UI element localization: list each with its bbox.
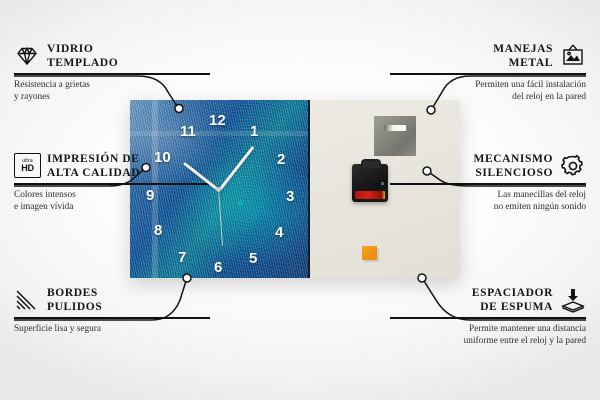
- foam-spacer-icon: [560, 287, 586, 313]
- feature-espaciador-espuma[interactable]: ESPACIADOR DE ESPUMA Permite mantener un…: [390, 286, 586, 348]
- feature-title: IMPRESIÓN DE ALTA CALIDAD: [47, 152, 140, 180]
- clock-center-pivot: [216, 187, 221, 192]
- feature-title: ESPACIADOR DE ESPUMA: [472, 286, 553, 314]
- picture-frame-icon: [560, 43, 586, 69]
- clock-numeral-2: 2: [277, 152, 285, 167]
- feature-title: MECANISMO SILENCIOSO: [473, 152, 553, 180]
- infographic-canvas: 12 1 2 3 4 5 6 7 8 9 10 11: [0, 0, 600, 400]
- feature-body-line1: Superficie lisa y segura: [14, 323, 210, 335]
- feature-header: ESPACIADOR DE ESPUMA: [390, 286, 586, 314]
- feature-title: MANEJAS METAL: [493, 42, 553, 70]
- orange-foam-spacer: [362, 246, 377, 260]
- clock-second-hand: [218, 190, 223, 246]
- divider: [14, 73, 210, 75]
- clock-numeral-1: 1: [250, 124, 258, 139]
- feature-body-line2: del reloj en la pared: [390, 91, 586, 103]
- feature-body-line2: no emiten ningún sonido: [390, 201, 586, 213]
- clock-numeral-8: 8: [154, 223, 162, 238]
- ultra-hd-big-text: HD: [21, 164, 33, 172]
- feature-header: VIDRIO TEMPLADO: [14, 42, 210, 70]
- feature-body-line2: uniforme entre el reloj y la pared: [390, 335, 586, 347]
- divider: [390, 317, 586, 319]
- gear-icon: [560, 153, 586, 179]
- feature-header: MANEJAS METAL: [390, 42, 586, 70]
- polished-edge-icon: [14, 287, 40, 313]
- clock-numeral-7: 7: [178, 250, 186, 265]
- feature-impresion-alta-calidad[interactable]: ultra HD IMPRESIÓN DE ALTA CALIDAD Color…: [14, 152, 210, 214]
- feature-body-line1: Permite mantener una distancia: [390, 323, 586, 335]
- feature-body-line2: y rayones: [14, 91, 210, 103]
- feature-vidrio-templado[interactable]: VIDRIO TEMPLADO Resistencia a grietas y …: [14, 42, 210, 104]
- divider: [390, 73, 586, 75]
- clock-numeral-12: 12: [209, 113, 226, 128]
- clock-numeral-3: 3: [286, 189, 294, 204]
- quartz-clock-mechanism: [352, 164, 388, 202]
- feature-manejas-metal[interactable]: MANEJAS METAL Permiten una fácil instala…: [390, 42, 586, 104]
- feature-header: ultra HD IMPRESIÓN DE ALTA CALIDAD: [14, 152, 210, 180]
- feature-header: BORDES PULIDOS: [14, 286, 210, 314]
- diamond-icon: [14, 43, 40, 69]
- hanger-slot: [384, 125, 406, 131]
- clock-numeral-9: 9: [146, 188, 154, 203]
- mechanism-hanger-tab: [361, 159, 381, 168]
- divider: [14, 317, 210, 319]
- divider: [390, 183, 586, 185]
- feature-body-line2: e imagen vívida: [14, 201, 210, 213]
- mechanism-detail: [381, 182, 384, 185]
- feature-title: VIDRIO TEMPLADO: [47, 42, 118, 70]
- feature-body-line1: Colores intensos: [14, 189, 210, 201]
- feature-title: BORDES PULIDOS: [47, 286, 102, 314]
- clock-numeral-4: 4: [275, 225, 283, 240]
- aa-battery: [355, 191, 385, 199]
- clock-numeral-10: 10: [154, 150, 171, 165]
- feature-header: MECANISMO SILENCIOSO: [390, 152, 586, 180]
- feature-body-line1: Las manecillas del reloj: [390, 189, 586, 201]
- clock-numeral-6: 6: [214, 260, 222, 275]
- feature-bordes-pulidos[interactable]: BORDES PULIDOS Superficie lisa y segura: [14, 286, 210, 335]
- clock-minute-hand: [218, 146, 254, 191]
- clock-numeral-11: 11: [180, 124, 196, 139]
- divider: [14, 183, 210, 185]
- feature-body-line1: Resistencia a grietas: [14, 79, 210, 91]
- clock-numeral-5: 5: [249, 251, 257, 266]
- ultra-hd-icon: ultra HD: [14, 153, 40, 179]
- feature-mecanismo-silencioso[interactable]: MECANISMO SILENCIOSO Las manecillas del …: [390, 152, 586, 214]
- feature-body-line1: Permiten una fácil instalación: [390, 79, 586, 91]
- metal-hanger-plate: [374, 116, 416, 156]
